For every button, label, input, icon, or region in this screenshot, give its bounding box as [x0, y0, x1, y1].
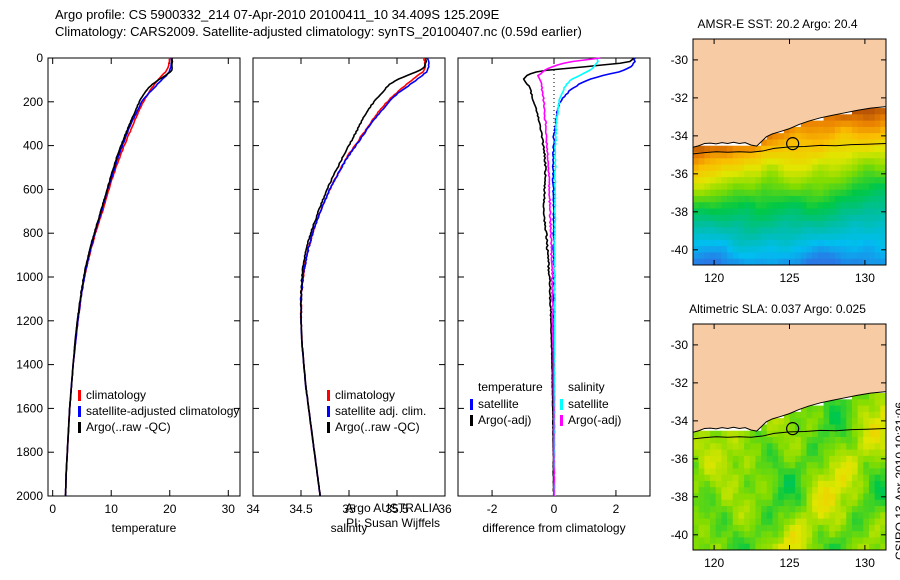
map-cell	[716, 227, 722, 234]
map-cell	[795, 525, 801, 532]
map-cell	[869, 190, 875, 197]
map-cell	[772, 456, 778, 463]
map-cell	[869, 431, 875, 438]
map-cell	[772, 481, 778, 488]
map-cell	[863, 431, 869, 438]
map-cell	[721, 215, 727, 222]
map-cell	[784, 468, 790, 475]
map-cell	[693, 525, 699, 532]
map-cell	[704, 152, 710, 159]
map-cell	[846, 215, 852, 222]
map-cell	[875, 475, 881, 482]
map-cell	[835, 431, 841, 438]
map-cell	[869, 406, 875, 413]
map-cell	[761, 462, 767, 469]
map-cell	[875, 209, 881, 216]
map-cell	[795, 500, 801, 507]
map-cell	[738, 234, 744, 241]
map-cell	[869, 165, 875, 172]
map-cell	[829, 456, 835, 463]
lon-tick-label: 125	[779, 556, 799, 570]
map-cell	[784, 443, 790, 450]
map-cell	[790, 190, 796, 197]
map-cell	[784, 240, 790, 247]
map-cell	[841, 221, 847, 228]
map-cell	[875, 246, 881, 253]
map-cell	[778, 133, 784, 140]
map-cell	[835, 437, 841, 444]
map-cell	[863, 215, 869, 222]
map-cell	[750, 227, 756, 234]
map-cell	[750, 215, 756, 222]
map-cell	[795, 252, 801, 259]
map-cell	[778, 158, 784, 165]
map-cell	[755, 537, 761, 544]
map-cell	[852, 468, 858, 475]
map-cell	[812, 456, 818, 463]
map-cell	[767, 475, 773, 482]
map-cell	[699, 177, 705, 184]
map-cell	[875, 462, 881, 469]
map-cell	[727, 531, 733, 538]
map-cell	[852, 240, 858, 247]
map-cell	[790, 456, 796, 463]
map-cell	[699, 525, 705, 532]
map-cell	[767, 165, 773, 172]
map-cell	[795, 221, 801, 228]
map-cell	[710, 234, 716, 241]
map-cell	[738, 487, 744, 494]
map-cell	[846, 202, 852, 209]
map-cell	[733, 177, 739, 184]
map-cell	[858, 537, 864, 544]
x-tick-label: 34.5	[289, 502, 313, 516]
map-cell	[704, 437, 710, 444]
map-cell	[727, 227, 733, 234]
map-cell	[852, 190, 858, 197]
map-cell	[738, 443, 744, 450]
map-cell	[716, 500, 722, 507]
map-cell	[784, 487, 790, 494]
map-cell	[704, 221, 710, 228]
map-cell	[744, 487, 750, 494]
map-cell	[869, 512, 875, 519]
map-cell	[738, 512, 744, 519]
map-cell	[772, 221, 778, 228]
map-cell	[835, 406, 841, 413]
map-cell	[733, 500, 739, 507]
map-cell	[710, 165, 716, 172]
map-cell	[744, 196, 750, 203]
map-cell	[846, 227, 852, 234]
map-cell	[824, 158, 830, 165]
map-cell	[863, 481, 869, 488]
map-cell	[801, 443, 807, 450]
map-cell	[738, 221, 744, 228]
map-cell	[733, 456, 739, 463]
map-cell	[858, 412, 864, 419]
map-cell	[744, 234, 750, 241]
map-cell	[744, 171, 750, 178]
depth-tick-label: 1000	[16, 270, 43, 284]
map-cell	[733, 227, 739, 234]
map-cell	[824, 406, 830, 413]
map-cell	[772, 525, 778, 532]
map-cell	[733, 531, 739, 538]
map-cell	[750, 506, 756, 513]
map-cell	[733, 450, 739, 457]
map-cell	[784, 531, 790, 538]
map-cell	[863, 468, 869, 475]
map-cell	[841, 412, 847, 419]
map-cell	[784, 462, 790, 469]
map-cell	[852, 152, 858, 159]
map-cell	[693, 183, 699, 190]
map-cell	[767, 500, 773, 507]
map-cell	[778, 531, 784, 538]
map-cell	[858, 468, 864, 475]
map-cell	[858, 431, 864, 438]
map-cell	[852, 512, 858, 519]
map-cell	[727, 437, 733, 444]
map-cell	[841, 127, 847, 134]
map-cell	[829, 190, 835, 197]
map-cell	[812, 234, 818, 241]
map-cell	[852, 481, 858, 488]
map-cell	[801, 494, 807, 501]
map-cell	[772, 139, 778, 146]
map-cell	[704, 531, 710, 538]
map-cell	[767, 537, 773, 544]
map-cell	[835, 456, 841, 463]
map-cell	[755, 246, 761, 253]
map-cell	[858, 443, 864, 450]
map-cell	[738, 202, 744, 209]
map-cell	[795, 165, 801, 172]
map-cell	[693, 165, 699, 172]
map-cell	[801, 202, 807, 209]
map-cell	[795, 240, 801, 247]
map-cell	[858, 252, 864, 259]
map-cell	[841, 537, 847, 544]
map-cell	[733, 196, 739, 203]
map-cell	[852, 450, 858, 457]
map-cell	[846, 183, 852, 190]
map-cell	[716, 240, 722, 247]
map-cell	[807, 240, 813, 247]
map-cell	[744, 537, 750, 544]
map-cell	[755, 443, 761, 450]
map-cell	[801, 450, 807, 457]
map-cell	[875, 190, 881, 197]
map-cell	[812, 177, 818, 184]
legend-swatch	[78, 390, 81, 401]
map-cell	[790, 215, 796, 222]
map-cell	[750, 158, 756, 165]
map-cell	[755, 487, 761, 494]
map-cell	[778, 456, 784, 463]
map-cell	[875, 183, 881, 190]
map-cell	[807, 519, 813, 526]
lat-tick-label: -38	[671, 490, 689, 504]
map-cell	[875, 494, 881, 501]
map-cell	[727, 190, 733, 197]
map-cell	[829, 437, 835, 444]
map-cell	[721, 240, 727, 247]
map-cell	[812, 121, 818, 128]
map-cell	[699, 512, 705, 519]
map-cell	[772, 215, 778, 222]
map-cell	[852, 506, 858, 513]
map-cell	[812, 221, 818, 228]
map-cell	[750, 519, 756, 526]
map-cell	[875, 512, 881, 519]
map-cell	[841, 406, 847, 413]
map-cell	[772, 202, 778, 209]
lat-tick-label: -40	[671, 528, 689, 542]
map-cell	[710, 240, 716, 247]
map-cell	[863, 240, 869, 247]
map-cell	[818, 462, 824, 469]
map-cell	[801, 462, 807, 469]
map-cell	[761, 443, 767, 450]
map-cell	[875, 399, 881, 406]
map-cell	[875, 202, 881, 209]
map-cell	[858, 227, 864, 234]
map-cell	[824, 443, 830, 450]
map-cell	[699, 209, 705, 216]
map-cell	[863, 202, 869, 209]
map-cell	[835, 227, 841, 234]
map-cell	[784, 525, 790, 532]
map-cell	[767, 246, 773, 253]
map-cell	[733, 171, 739, 178]
map-cell	[704, 494, 710, 501]
map-cell	[824, 481, 830, 488]
map-cell	[835, 158, 841, 165]
map-cell	[784, 209, 790, 216]
map-cell	[693, 252, 699, 259]
map-cell	[755, 475, 761, 482]
map-cell	[761, 240, 767, 247]
map-cell	[710, 519, 716, 526]
map-cell	[824, 468, 830, 475]
legend-swatch	[327, 390, 330, 401]
map-cell	[875, 450, 881, 457]
map-cell	[863, 412, 869, 419]
map-cell	[829, 183, 835, 190]
map-cell	[835, 121, 841, 128]
map-cell	[824, 171, 830, 178]
map-cell	[869, 519, 875, 526]
map-cell	[869, 227, 875, 234]
map-cell	[767, 487, 773, 494]
map-cell	[790, 512, 796, 519]
map-cell	[818, 227, 824, 234]
map-cell	[727, 209, 733, 216]
map-cell	[693, 240, 699, 247]
map-cell	[761, 537, 767, 544]
map-cell	[784, 183, 790, 190]
map-cell	[772, 177, 778, 184]
map-cell	[795, 450, 801, 457]
map-cell	[710, 456, 716, 463]
map-cell	[784, 500, 790, 507]
map-cell	[721, 531, 727, 538]
map-cell	[835, 215, 841, 222]
map-cell	[778, 494, 784, 501]
map-cell	[727, 158, 733, 165]
map-cell	[778, 171, 784, 178]
map-cell	[738, 506, 744, 513]
map-cell	[767, 443, 773, 450]
map-cell	[841, 196, 847, 203]
map-cell	[835, 500, 841, 507]
map-cell	[733, 481, 739, 488]
map-cell	[801, 196, 807, 203]
map-cell	[693, 500, 699, 507]
map-cell	[869, 537, 875, 544]
map-cell	[744, 221, 750, 228]
sla-map-title: Altimetric SLA: 0.037 Argo: 0.025	[660, 302, 895, 316]
map-cell	[846, 158, 852, 165]
map-cell	[772, 209, 778, 216]
map-cell	[869, 196, 875, 203]
lat-tick-label: -36	[671, 167, 689, 181]
map-cell	[818, 431, 824, 438]
map-cell	[829, 171, 835, 178]
map-cell	[835, 177, 841, 184]
map-cell	[858, 215, 864, 222]
map-cell	[846, 121, 852, 128]
map-cell	[869, 456, 875, 463]
map-cell	[869, 146, 875, 153]
map-cell	[801, 468, 807, 475]
map-cell	[818, 158, 824, 165]
map-cell	[738, 525, 744, 532]
map-cell	[795, 152, 801, 159]
x-tick-label: 10	[105, 502, 119, 516]
map-cell	[835, 525, 841, 532]
map-cell	[869, 183, 875, 190]
map-cell	[841, 158, 847, 165]
map-cell	[812, 506, 818, 513]
legend-label: climatology	[335, 388, 395, 402]
map-cell	[824, 412, 830, 419]
map-cell	[807, 437, 813, 444]
map-cell	[710, 525, 716, 532]
map-cell	[767, 240, 773, 247]
map-cell	[841, 165, 847, 172]
map-cell	[733, 494, 739, 501]
map-cell	[824, 252, 830, 259]
map-cell	[721, 525, 727, 532]
map-cell	[784, 177, 790, 184]
map-cell	[818, 171, 824, 178]
map-cell	[790, 221, 796, 228]
map-cell	[750, 456, 756, 463]
map-cell	[846, 525, 852, 532]
map-cell	[841, 246, 847, 253]
map-cell	[841, 215, 847, 222]
map-cell	[875, 158, 881, 165]
lat-tick-label: -34	[671, 129, 689, 143]
map-cell	[716, 481, 722, 488]
map-cell	[761, 494, 767, 501]
map-cell	[767, 456, 773, 463]
map-cell	[801, 487, 807, 494]
map-cell	[710, 500, 716, 507]
map-cell	[772, 252, 778, 259]
map-cell	[869, 246, 875, 253]
map-cell	[852, 246, 858, 253]
map-cell	[733, 252, 739, 259]
map-cell	[835, 221, 841, 228]
map-cell	[784, 221, 790, 228]
map-cell	[727, 196, 733, 203]
map-cell	[858, 133, 864, 140]
map-cell	[738, 183, 744, 190]
map-cell	[829, 215, 835, 222]
map-cell	[807, 424, 813, 431]
map-cell	[772, 537, 778, 544]
map-cell	[869, 240, 875, 247]
map-cell	[704, 506, 710, 513]
map-cell	[721, 202, 727, 209]
map-cell	[818, 121, 824, 128]
map-cell	[807, 475, 813, 482]
map-cell	[818, 475, 824, 482]
map-cell	[863, 177, 869, 184]
map-cell	[693, 481, 699, 488]
map-cell	[733, 462, 739, 469]
map-cell	[801, 481, 807, 488]
map-cell	[812, 246, 818, 253]
map-cell	[704, 240, 710, 247]
map-cell	[863, 443, 869, 450]
lat-tick-label: -34	[671, 414, 689, 428]
map-cell	[778, 500, 784, 507]
map-cell	[875, 487, 881, 494]
map-cell	[829, 406, 835, 413]
lat-tick-label: -40	[671, 243, 689, 257]
map-cell	[795, 183, 801, 190]
map-cell	[824, 209, 830, 216]
map-cell	[721, 171, 727, 178]
map-cell	[846, 252, 852, 259]
map-cell	[858, 462, 864, 469]
map-cell	[772, 418, 778, 425]
map-cell	[744, 531, 750, 538]
map-cell	[863, 127, 869, 134]
map-cell	[778, 215, 784, 222]
map-cell	[812, 196, 818, 203]
legend-swatch	[78, 422, 81, 433]
map-cell	[790, 525, 796, 532]
map-cell	[829, 240, 835, 247]
map-cell	[795, 215, 801, 222]
map-cell	[858, 146, 864, 153]
map-cell	[863, 252, 869, 259]
map-cell	[778, 252, 784, 259]
map-cell	[750, 234, 756, 241]
map-cell	[761, 215, 767, 222]
map-cell	[852, 399, 858, 406]
map-cell	[829, 519, 835, 526]
map-cell	[852, 114, 858, 121]
map-cell	[727, 177, 733, 184]
map-cell	[869, 462, 875, 469]
